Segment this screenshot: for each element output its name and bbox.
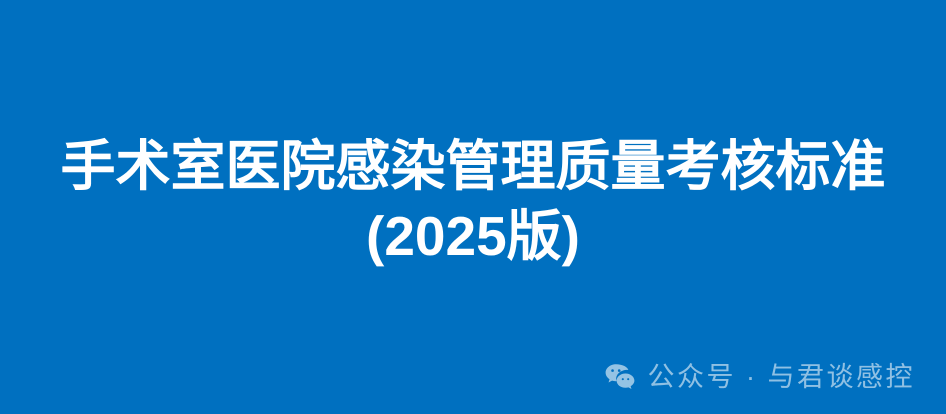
watermark-label: 公众号 · 与君谈感控 [648, 361, 916, 393]
title-slide: 手术室医院感染管理质量考核标准 (2025版) 公众号 · 与君谈感控 [0, 0, 946, 414]
page-title: 手术室医院感染管理质量考核标准 (2025版) [0, 131, 946, 271]
watermark: 公众号 · 与君谈感控 [604, 355, 916, 399]
title-line-primary: 手术室医院感染管理质量考核标准 [0, 131, 946, 201]
wechat-logo-icon [604, 361, 636, 393]
title-line-edition: (2025版) [0, 201, 946, 271]
